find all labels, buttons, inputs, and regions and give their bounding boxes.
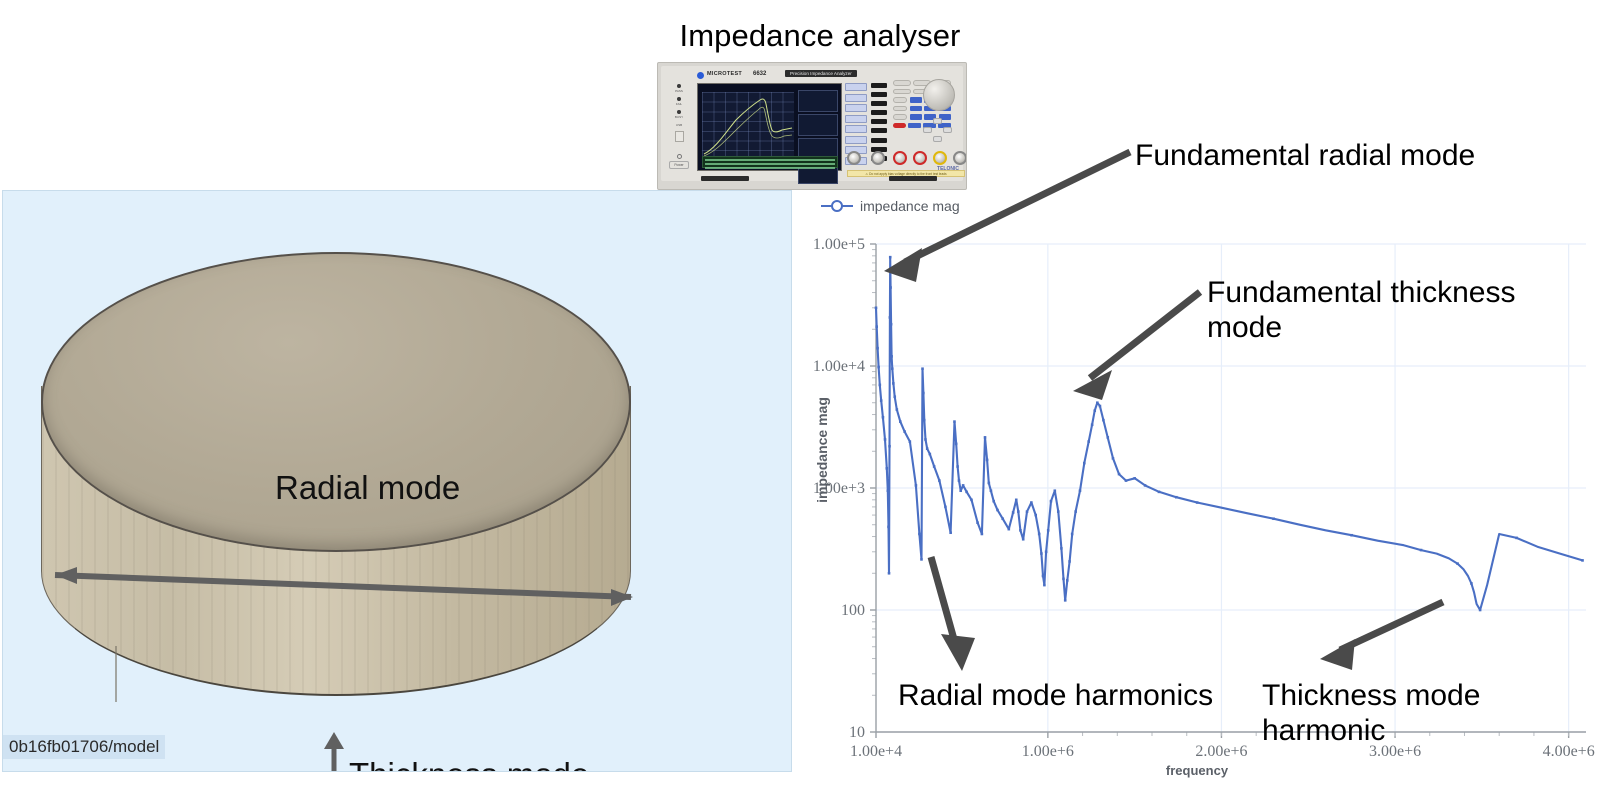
analyser-trace	[702, 92, 794, 160]
data-point	[1112, 457, 1115, 460]
data-point	[889, 286, 892, 289]
annotation-radial-harmonics: Radial mode harmonics	[898, 678, 1213, 713]
data-point	[1007, 528, 1010, 531]
data-point	[926, 447, 929, 450]
data-point	[965, 491, 968, 494]
annotation-thickness-harmonic: Thickness mode harmonic	[1262, 678, 1480, 749]
data-point	[903, 430, 906, 433]
model-viewport[interactable]: Radial mode Thickness mode x y z	[2, 190, 792, 772]
data-point	[920, 558, 923, 561]
data-point	[1050, 500, 1053, 503]
y-tick-label: 1.00e+5	[813, 236, 865, 253]
data-point	[958, 479, 961, 482]
analyser-screen	[697, 83, 842, 171]
rotary-knob[interactable]	[923, 79, 955, 111]
data-point	[1479, 609, 1482, 612]
data-point	[1456, 562, 1459, 565]
data-point	[953, 420, 956, 423]
data-point	[1074, 510, 1077, 513]
model-number: 6632	[753, 71, 766, 77]
data-point	[981, 533, 984, 536]
analyser-brandbar: MICROTEST 6632 Precision Impedance Analy…	[697, 71, 897, 80]
data-point	[944, 506, 947, 509]
analyser-arrow-keys[interactable]	[923, 118, 953, 142]
data-point	[882, 416, 885, 419]
data-point	[875, 306, 878, 309]
data-point	[1083, 462, 1086, 465]
data-point	[1272, 517, 1275, 520]
data-point	[949, 531, 952, 534]
thickness-mode-arrow	[319, 731, 349, 772]
data-point	[1022, 538, 1025, 541]
analyser-figure: Impedance analyser PASS FAIL BUSY USB MI…	[655, 18, 985, 193]
disc-seam-line	[115, 646, 117, 702]
data-point	[892, 382, 895, 385]
data-point	[1062, 578, 1065, 581]
data-point	[933, 465, 936, 468]
data-point	[996, 509, 999, 512]
data-point	[1087, 440, 1090, 443]
photo-watermark: TELONIC	[937, 166, 959, 172]
data-point	[909, 440, 912, 443]
data-point	[1045, 550, 1048, 553]
disc-top-face	[41, 252, 631, 552]
data-point	[984, 436, 987, 439]
data-point	[1099, 405, 1102, 408]
data-point	[929, 453, 932, 456]
data-point	[1042, 575, 1045, 578]
data-point	[1057, 510, 1060, 513]
data-point	[986, 459, 989, 462]
y-tick-label: 100	[841, 602, 865, 619]
analyser-photo: PASS FAIL BUSY USB MICROTEST 6632 Precis…	[657, 62, 967, 190]
data-point	[1026, 510, 1029, 513]
data-point	[1581, 559, 1584, 562]
data-point	[962, 484, 965, 487]
annotation-fundamental-radial: Fundamental radial mode	[1135, 138, 1475, 173]
data-point	[1175, 496, 1178, 499]
thickness-mode-label: Thickness mode	[349, 756, 589, 772]
data-point	[1093, 409, 1096, 412]
data-point	[921, 367, 924, 370]
data-point	[1196, 501, 1199, 504]
data-point	[1133, 477, 1136, 480]
data-point	[889, 316, 892, 319]
data-point	[915, 484, 918, 487]
data-point	[1350, 534, 1353, 537]
data-point	[922, 392, 925, 395]
data-point	[1017, 510, 1020, 513]
x-tick-label: 1.00e+4	[850, 743, 902, 760]
data-point	[1060, 547, 1063, 550]
data-point	[970, 499, 973, 502]
data-point	[1125, 479, 1128, 482]
data-point	[887, 526, 890, 529]
data-point	[1001, 517, 1004, 520]
data-point	[891, 367, 894, 370]
data-point	[876, 347, 879, 350]
data-point	[1068, 560, 1071, 563]
data-point	[1066, 579, 1069, 582]
data-point	[887, 489, 890, 492]
data-point	[1106, 436, 1109, 439]
data-point	[1054, 489, 1057, 492]
power-button[interactable]: Power	[669, 154, 689, 169]
data-point	[1118, 473, 1121, 476]
analyser-left-indicators: PASS FAIL BUSY USB	[671, 84, 687, 142]
analyser-readout-panel	[798, 90, 838, 158]
data-point	[1071, 533, 1074, 536]
data-point	[889, 256, 892, 259]
data-point	[888, 445, 891, 448]
data-point	[1420, 549, 1423, 552]
analyser-bnc-connectors[interactable]	[847, 149, 965, 167]
analyser-status-strip	[702, 156, 838, 168]
data-point	[1043, 584, 1046, 587]
bottom-strip	[0, 796, 1600, 804]
data-point	[896, 408, 899, 411]
data-point	[1038, 533, 1041, 536]
analyser-subtitle: Precision Impedance Analyzer	[785, 70, 857, 77]
data-point	[890, 355, 893, 358]
data-point	[1091, 423, 1094, 426]
annotation-fundamental-thickness: Fundamental thickness mode	[1207, 275, 1516, 346]
brand-name: MICROTEST	[707, 71, 742, 77]
data-point	[1096, 401, 1099, 404]
x-axis-label: frequency	[796, 763, 1598, 778]
data-point	[893, 395, 896, 398]
data-point	[1012, 511, 1015, 514]
data-point	[1144, 484, 1147, 487]
data-point	[1515, 537, 1518, 540]
data-point	[1019, 529, 1022, 532]
data-point	[885, 467, 888, 470]
data-point	[956, 465, 959, 468]
x-tick-label: 1.00e+6	[1022, 743, 1074, 760]
data-point	[879, 384, 882, 387]
data-point	[959, 489, 962, 492]
data-point	[899, 420, 902, 423]
data-point	[988, 482, 991, 485]
data-point	[1040, 552, 1043, 555]
radial-mode-arrow	[33, 551, 653, 621]
data-point	[992, 500, 995, 503]
data-point	[990, 489, 993, 492]
data-point	[1079, 489, 1082, 492]
analyser-title: Impedance analyser	[655, 18, 985, 54]
data-point	[877, 366, 880, 369]
data-point	[924, 438, 927, 441]
data-point	[923, 419, 926, 422]
brand-logo-icon	[697, 72, 704, 79]
x-tick-label: 4.00e+6	[1543, 743, 1595, 760]
data-point	[890, 323, 893, 326]
data-point	[1064, 599, 1067, 602]
x-tick-label: 2.00e+6	[1195, 743, 1247, 760]
data-point	[1047, 529, 1050, 532]
data-point	[888, 572, 891, 575]
data-point	[1158, 491, 1161, 494]
data-point	[976, 521, 979, 524]
data-point	[1030, 501, 1033, 504]
data-point	[1034, 514, 1037, 517]
data-point	[880, 399, 883, 402]
y-tick-label: 10	[849, 724, 865, 741]
radial-mode-label: Radial mode	[275, 469, 460, 507]
model-status-bar: 0b16fb01706/model	[3, 735, 165, 759]
y-axis-label: impedance mag	[814, 370, 830, 530]
analyser-screen-grid	[702, 92, 794, 160]
data-point	[918, 533, 921, 536]
data-point	[955, 443, 958, 446]
data-point	[875, 325, 878, 328]
data-point	[1015, 499, 1018, 502]
data-point	[1102, 419, 1105, 422]
data-point	[1470, 582, 1473, 585]
data-point	[884, 438, 887, 441]
data-point	[938, 479, 941, 482]
